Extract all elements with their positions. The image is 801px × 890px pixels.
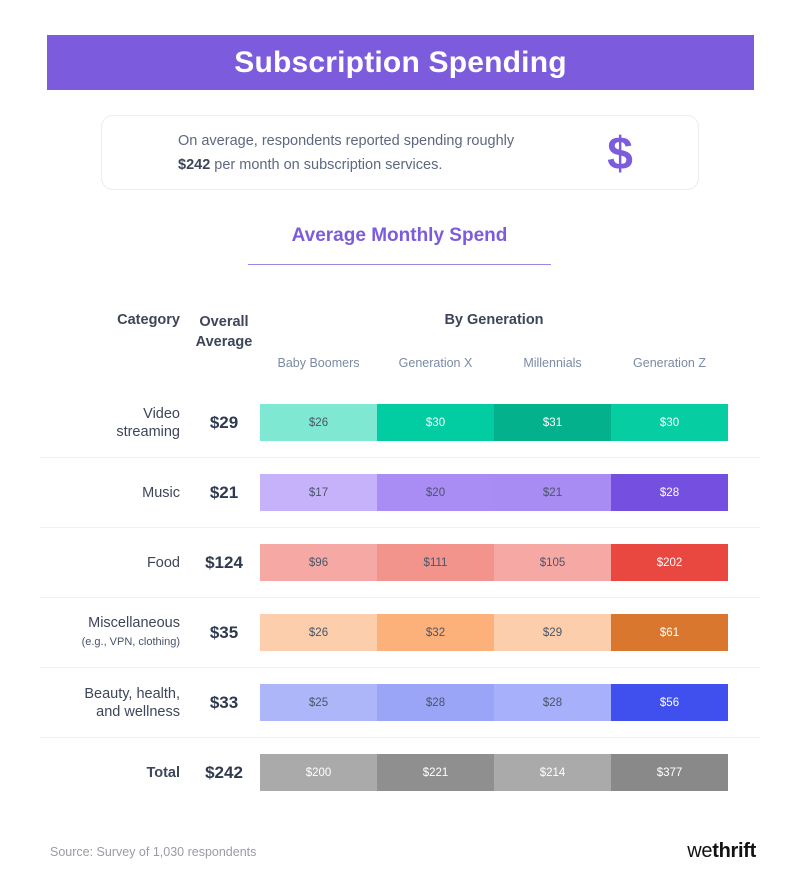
bar-segment: $26 [260,614,377,651]
row-bars: $26$30$31$30 [260,388,728,457]
bar-segment: $28 [494,684,611,721]
bar-segment: $200 [260,754,377,791]
source-note: Source: Survey of 1,030 respondents [50,845,256,859]
table-body: Videostreaming$29$26$30$31$30Music$21$17… [40,388,760,807]
row-label-line1: Beauty, health, [84,685,180,703]
bar-segment: $26 [260,404,377,441]
table-row: Total$242$200$221$214$377 [40,737,760,807]
row-label: Total [40,738,180,807]
row-overall-average: $35 [185,598,263,667]
bar-segment: $30 [611,404,728,441]
row-overall-average: $29 [185,388,263,457]
column-header-overall-line2: Average [196,334,253,350]
row-label-line2: and wellness [96,703,180,721]
footer: Source: Survey of 1,030 respondents weth… [50,840,756,863]
bar-track: $96$111$105$202 [260,544,728,581]
generation-header-3: Millennials [494,356,611,370]
bar-track: $26$32$29$61 [260,614,728,651]
bar-segment: $56 [611,684,728,721]
bar-segment: $214 [494,754,611,791]
title-banner: Subscription Spending [47,35,754,90]
row-label-line1: Food [147,554,180,572]
bar-segment: $25 [260,684,377,721]
row-bars: $96$111$105$202 [260,528,728,597]
bar-segment: $30 [377,404,494,441]
row-label-line1: Video [143,405,180,423]
row-label: Music [40,458,180,527]
row-bars: $25$28$28$56 [260,668,728,737]
row-label-line1: Music [142,484,180,502]
table-row: Videostreaming$29$26$30$31$30 [40,388,760,457]
bar-segment: $29 [494,614,611,651]
row-label: Food [40,528,180,597]
section-divider [248,264,551,265]
column-header-category: Category [40,312,180,328]
logo-thrift: thrift [712,840,756,862]
table-row: Music$21$17$20$21$28 [40,457,760,527]
bar-track: $25$28$28$56 [260,684,728,721]
bar-segment: $17 [260,474,377,511]
bar-segment: $111 [377,544,494,581]
row-label-line1: Total [146,764,180,782]
generation-header-1: Baby Boomers [260,356,377,370]
table-row: Miscellaneous(e.g., VPN, clothing)$35$26… [40,597,760,667]
table-header: Category Overall Average By Generation B… [40,300,760,388]
row-overall-average: $33 [185,668,263,737]
row-overall-average: $21 [185,458,263,527]
callout-text: On average, respondents reported spendin… [102,129,560,177]
bar-track: $200$221$214$377 [260,754,728,791]
row-label: Videostreaming [40,388,180,457]
logo-we: we [687,840,712,862]
summary-callout-card: On average, respondents reported spendin… [101,115,699,190]
bar-segment: $21 [494,474,611,511]
wethrift-logo: wethrift [687,840,756,863]
callout-line-2: per month on subscription services. [210,157,442,173]
table-row: Food$124$96$111$105$202 [40,527,760,597]
bar-track: $17$20$21$28 [260,474,728,511]
bar-segment: $202 [611,544,728,581]
row-bars: $26$32$29$61 [260,598,728,667]
spend-table: Category Overall Average By Generation B… [40,300,760,807]
bar-segment: $28 [377,684,494,721]
bar-segment: $31 [494,404,611,441]
bar-segment: $61 [611,614,728,651]
bar-segment: $28 [611,474,728,511]
section-heading-label: Average Monthly Spend [248,225,551,247]
column-header-overall-line1: Overall [199,314,248,330]
column-header-by-generation: By Generation [260,312,728,328]
bar-segment: $377 [611,754,728,791]
dollar-sign-icon: $ [560,130,698,176]
generation-header-4: Generation Z [611,356,728,370]
bar-segment: $105 [494,544,611,581]
row-overall-average: $242 [185,738,263,807]
generation-header-2: Generation X [377,356,494,370]
row-label: Beauty, health,and wellness [40,668,180,737]
section-heading: Average Monthly Spend [248,225,551,265]
row-label-line2: streaming [116,423,180,441]
callout-line-1: On average, respondents reported spendin… [178,133,514,149]
column-header-overall-average: Overall Average [185,312,263,352]
bar-segment: $32 [377,614,494,651]
bar-segment: $221 [377,754,494,791]
row-bars: $200$221$214$377 [260,738,728,807]
row-label-line1: Miscellaneous [88,614,180,632]
row-sublabel: (e.g., VPN, clothing) [82,633,180,651]
table-row: Beauty, health,and wellness$33$25$28$28$… [40,667,760,737]
row-bars: $17$20$21$28 [260,458,728,527]
row-label: Miscellaneous(e.g., VPN, clothing) [40,598,180,667]
bar-segment: $96 [260,544,377,581]
page-title: Subscription Spending [234,46,567,80]
bar-track: $26$30$31$30 [260,404,728,441]
row-overall-average: $124 [185,528,263,597]
bar-segment: $20 [377,474,494,511]
callout-amount: $242 [178,157,210,173]
generation-header-row: Baby BoomersGeneration XMillennialsGener… [260,356,728,370]
